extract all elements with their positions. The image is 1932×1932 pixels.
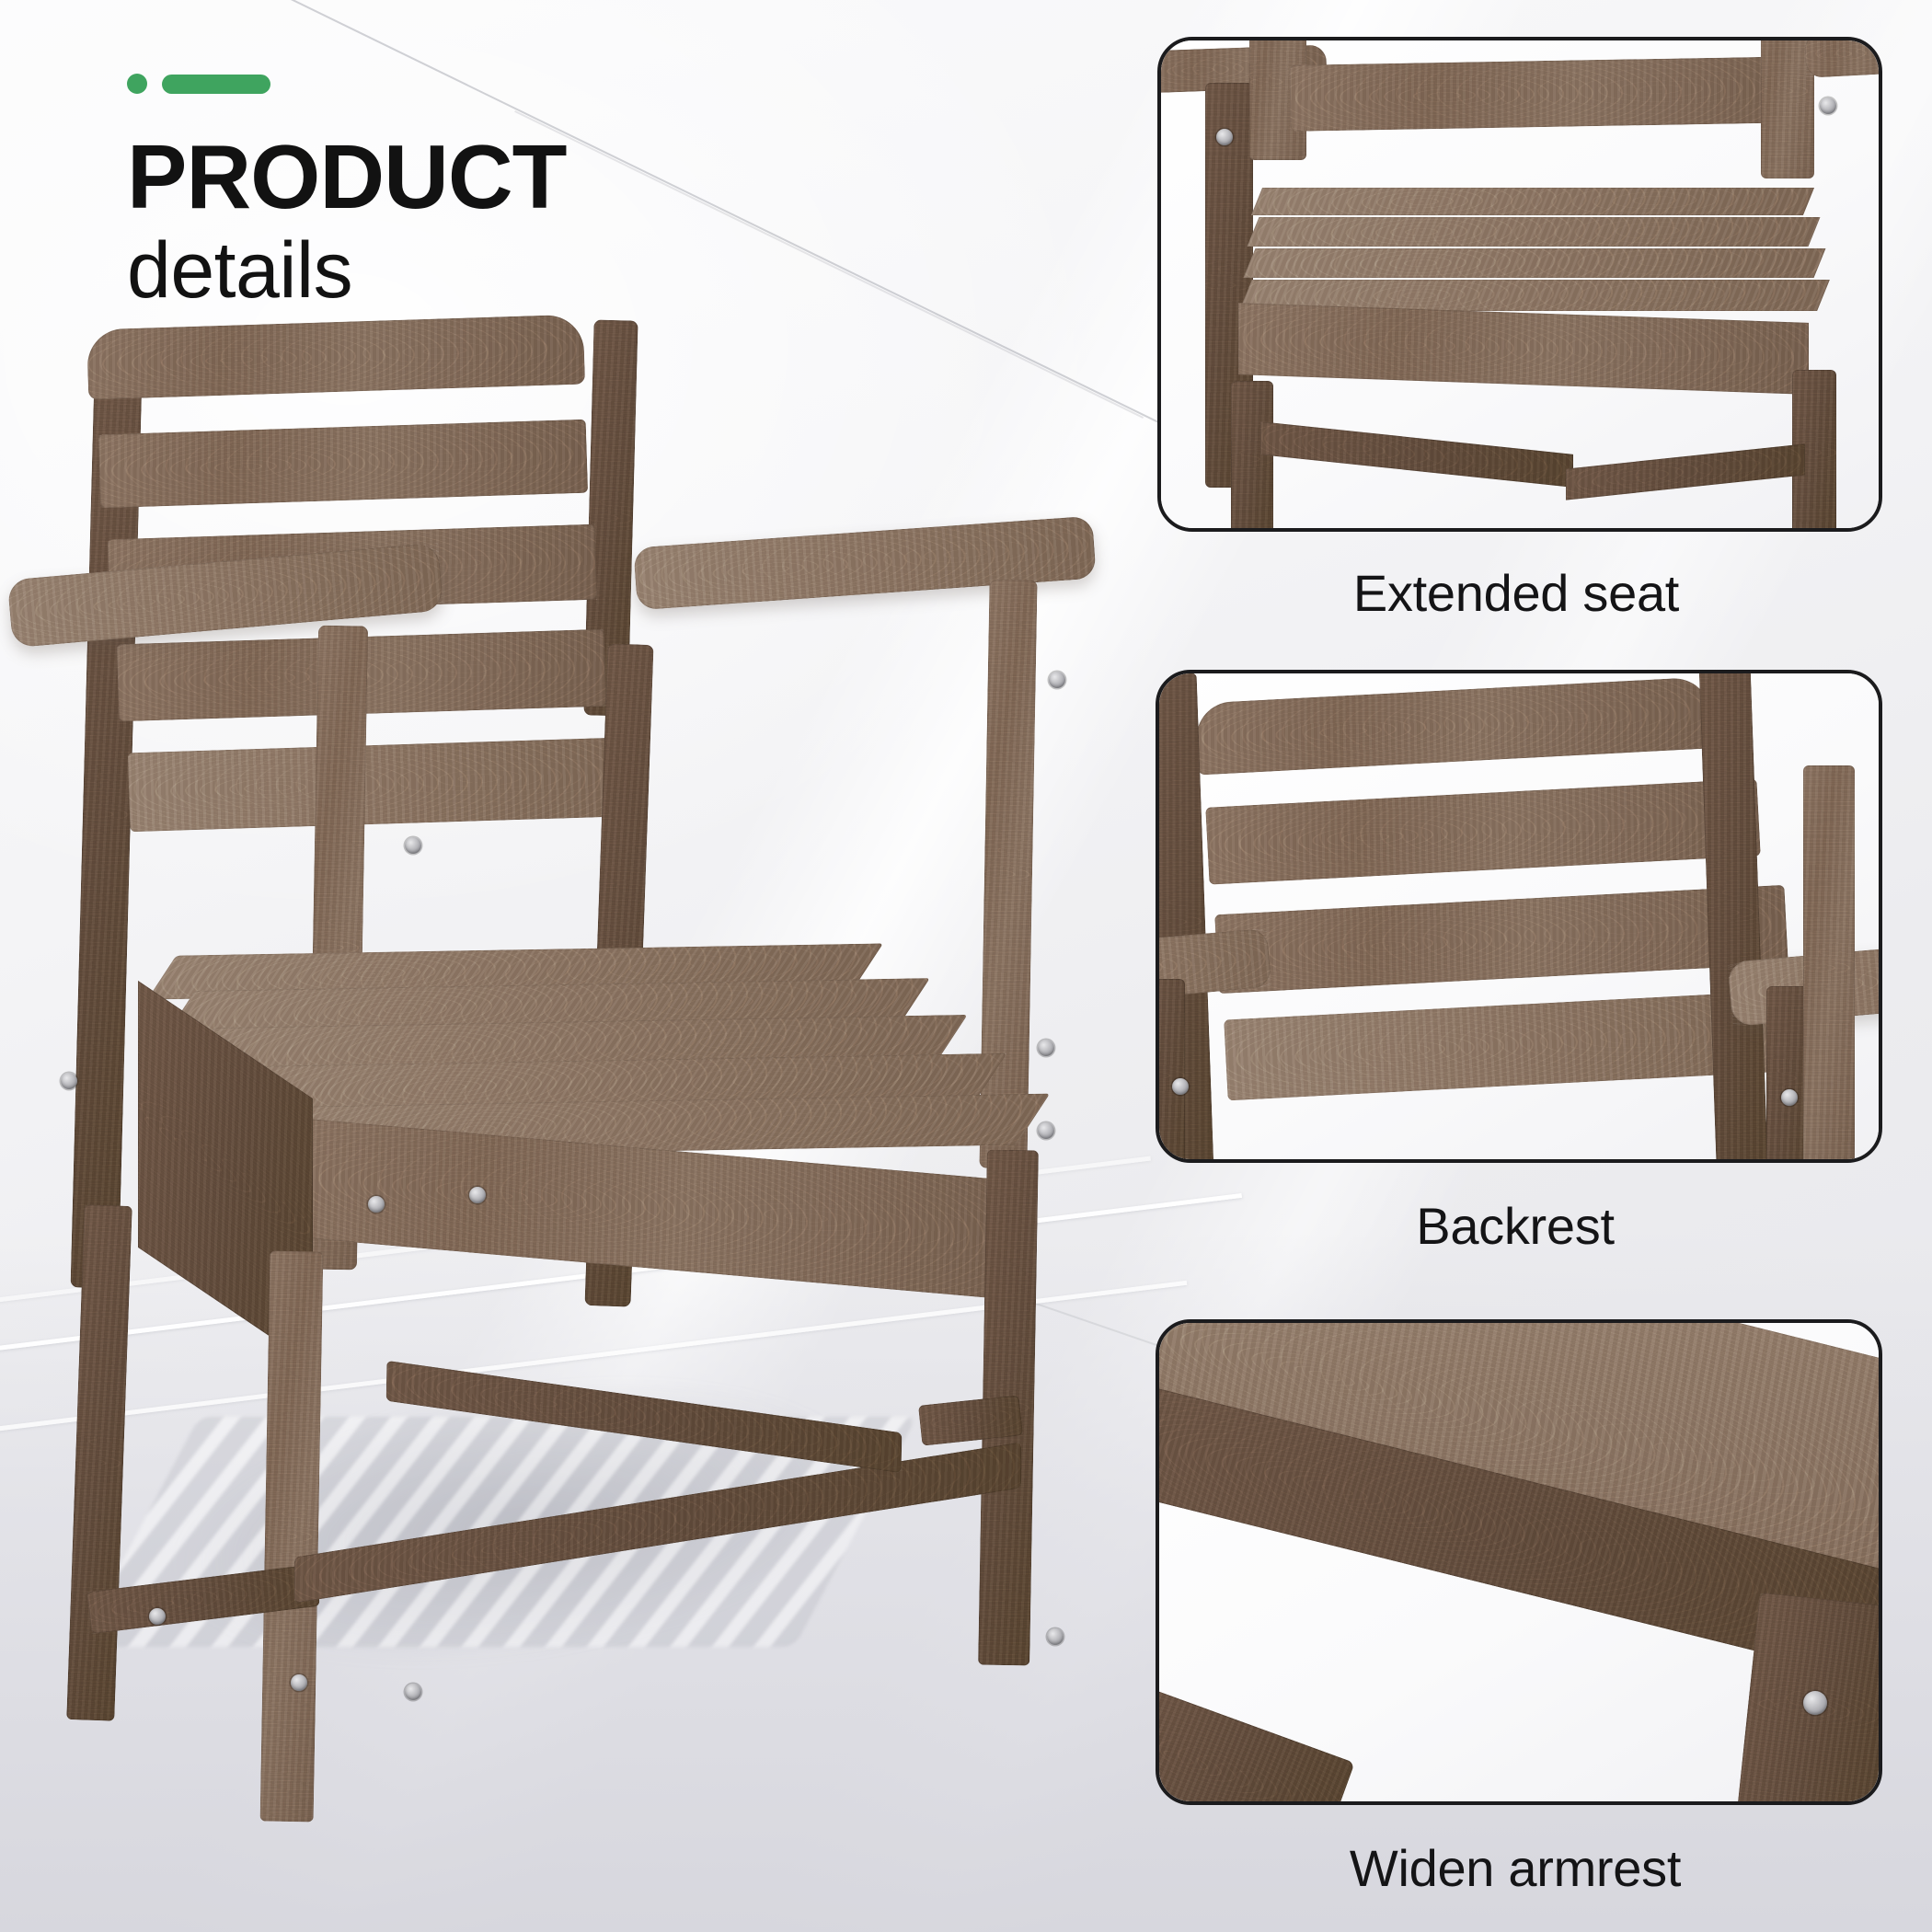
screw <box>469 1187 486 1203</box>
screw <box>1049 672 1065 688</box>
caption-backrest: Backrest <box>1156 1196 1875 1256</box>
card1-seat-slat <box>1251 188 1814 215</box>
screw <box>1216 129 1233 145</box>
backrest-slat-1 <box>98 420 588 509</box>
green-bar-icon <box>162 75 270 94</box>
hero-product-image <box>0 396 1159 1831</box>
screw <box>291 1674 307 1691</box>
screw <box>368 1196 385 1213</box>
accent-marks <box>127 74 789 94</box>
detail-card-widen-armrest <box>1156 1319 1882 1805</box>
green-dot-icon <box>127 74 147 94</box>
card1-backrest-rail <box>1289 56 1805 132</box>
backrest-slat-4 <box>128 738 617 833</box>
screw <box>1803 1691 1827 1715</box>
screw <box>1820 98 1836 114</box>
page-title-secondary: details <box>127 226 789 315</box>
card1-seat-slat <box>1248 217 1821 247</box>
chair-front-leg-left <box>260 1251 324 1823</box>
page-title-primary: PRODUCT <box>127 132 789 221</box>
caption-widen-armrest: Widen armrest <box>1156 1838 1875 1898</box>
screw <box>1038 1040 1054 1056</box>
card1-seat-slat <box>1244 248 1826 278</box>
screw <box>1172 1078 1189 1095</box>
header-block: PRODUCT details <box>127 74 789 315</box>
detail-card-backrest <box>1156 670 1882 1163</box>
product-detail-page: PRODUCT details <box>0 0 1932 1932</box>
card2-support <box>1159 979 1185 1159</box>
screw <box>405 837 421 854</box>
screw <box>149 1608 166 1625</box>
screw <box>405 1684 421 1700</box>
detail-card-extended-seat <box>1157 37 1882 532</box>
caption-extended-seat: Extended seat <box>1157 563 1875 623</box>
screw <box>1781 1089 1798 1106</box>
screw <box>1038 1122 1054 1139</box>
screw <box>1047 1628 1064 1645</box>
screw <box>61 1073 77 1089</box>
